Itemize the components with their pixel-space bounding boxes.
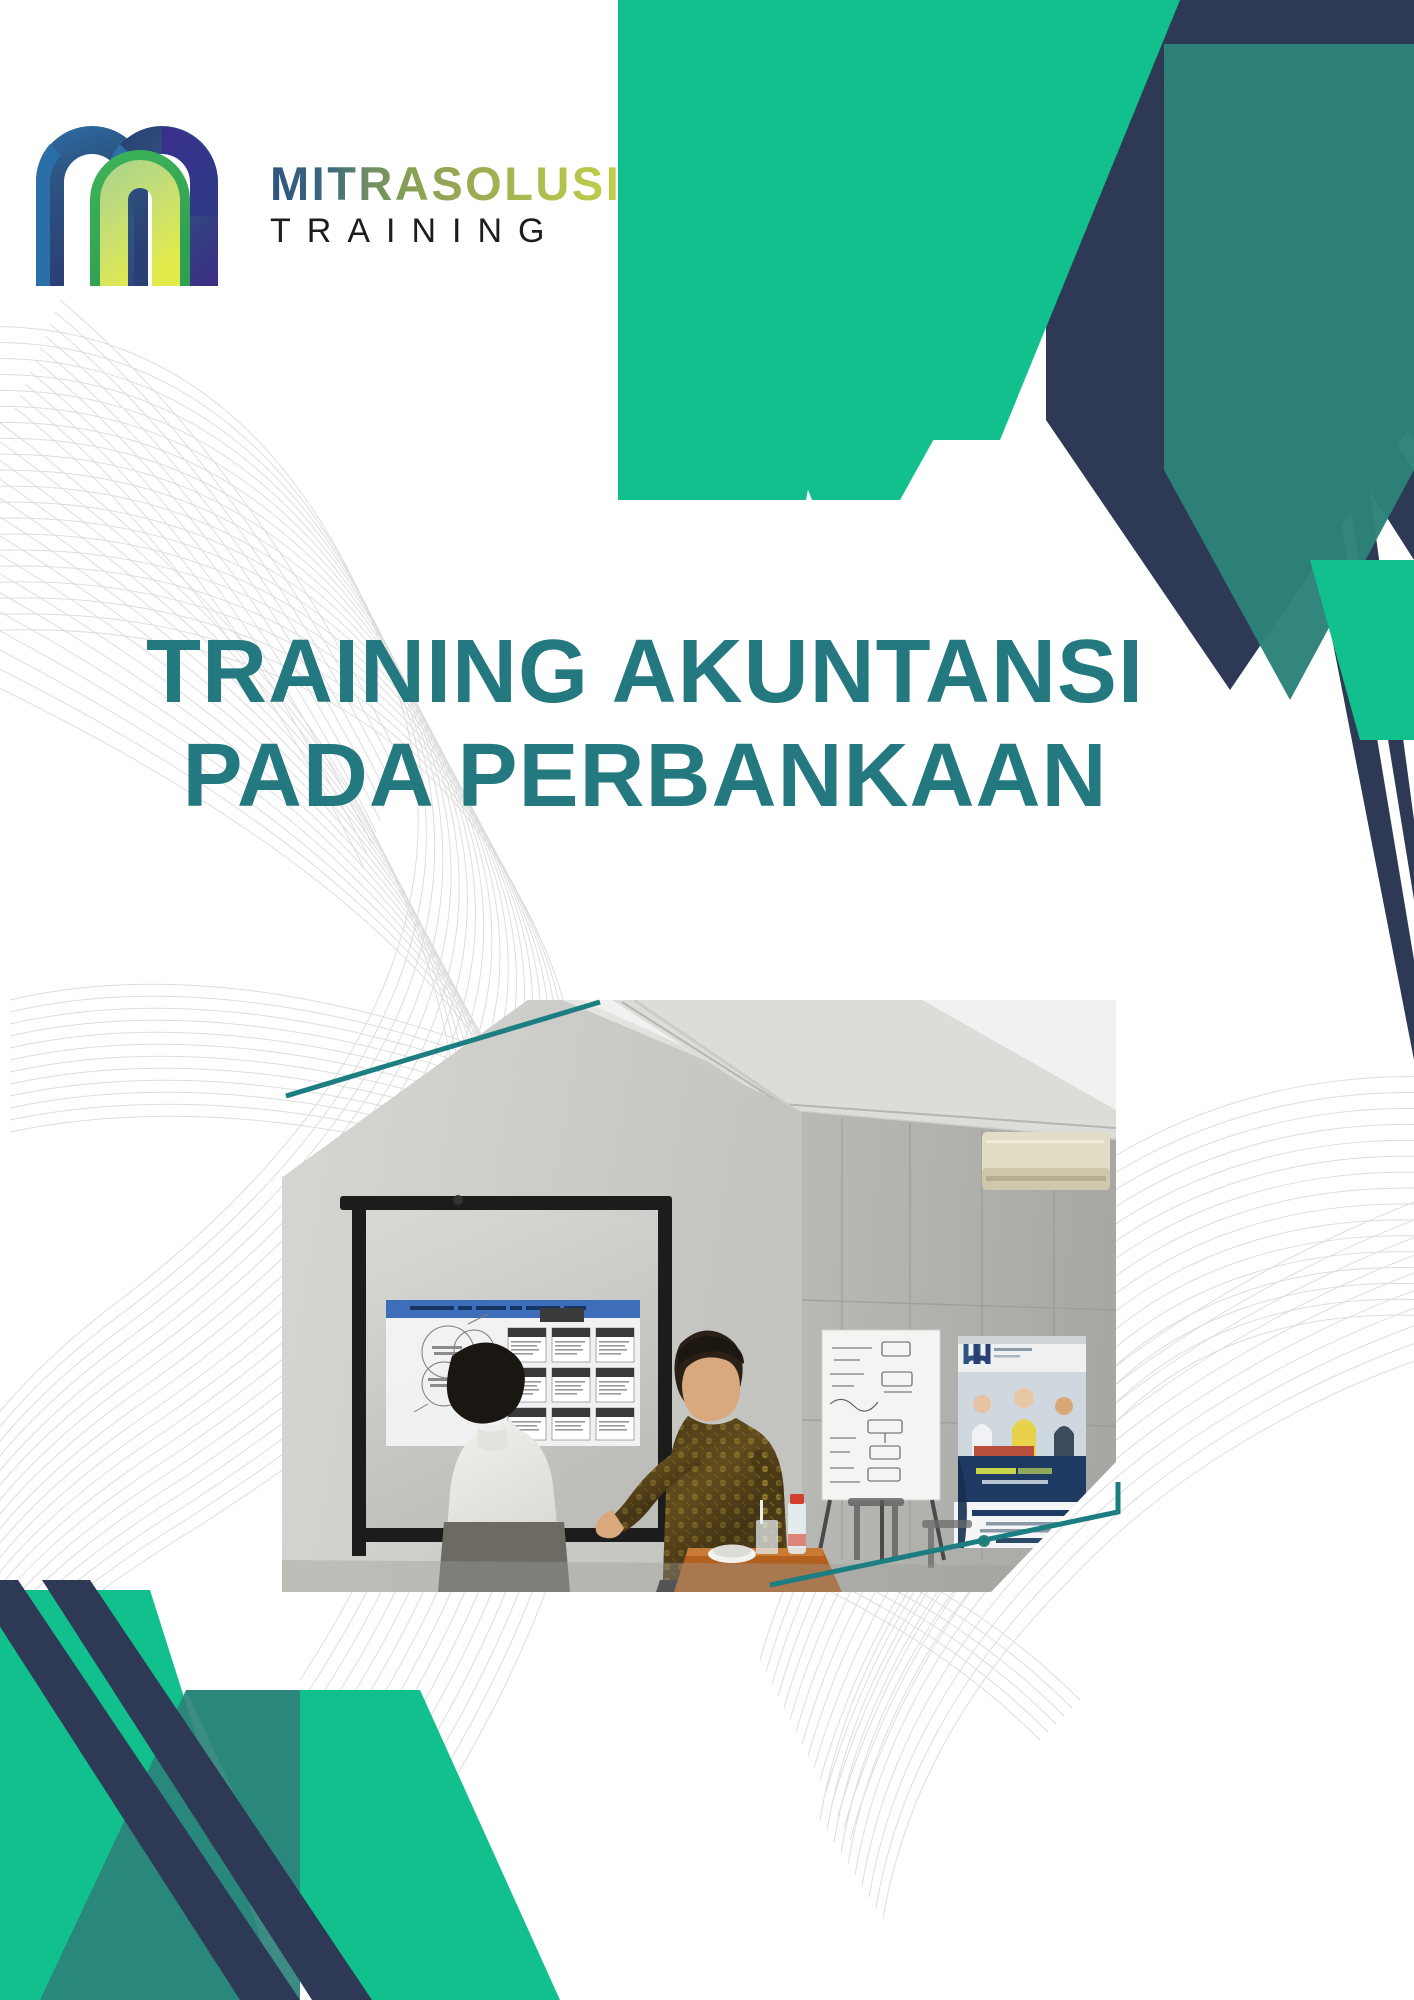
mitra-solusi-logo-mark	[28, 96, 260, 286]
title-line-1: TRAINING AKUNTANSI	[0, 620, 1290, 724]
training-photo-image	[282, 1000, 1116, 1592]
air-conditioner	[982, 1132, 1110, 1190]
green-chevron-top	[618, 0, 1178, 500]
cover-page: MITRASOLUSI TRAINING TRAINING AKUNTANSI …	[0, 0, 1414, 2000]
green-chevron-bottom-left	[0, 1590, 280, 2000]
green-chevron-top-4	[1310, 560, 1414, 740]
logo-wordmark-group: MITRASOLUSI TRAINING	[270, 160, 621, 248]
green-chevron-top-3	[800, 0, 1180, 440]
teal-diamond-bottom	[40, 1690, 300, 2000]
logo-word-solusi: SOLUSI	[431, 160, 621, 207]
logo-word-mitra: MITRA	[270, 160, 431, 207]
navy-diagonal-stripes-top	[1208, 0, 1414, 1060]
title-line-2: PADA PERBANKAAN	[0, 724, 1290, 828]
brand-logo: MITRASOLUSI TRAINING	[28, 96, 621, 286]
rollup-banner	[954, 1336, 1090, 1548]
teal-diamond-top	[1164, 44, 1414, 700]
logo-subtitle: TRAINING	[270, 214, 621, 248]
navy-chevron-top	[1046, 0, 1414, 690]
training-photo	[282, 1000, 1116, 1592]
navy-diagonal-stripes-bottom	[0, 1580, 372, 2000]
logo-wordmark: MITRASOLUSI	[270, 160, 621, 207]
page-title: TRAINING AKUNTANSI PADA PERBANKAAN	[0, 620, 1290, 829]
green-chevron-bottom-mid	[186, 1690, 560, 2000]
green-chevron-top-2	[618, 0, 900, 500]
